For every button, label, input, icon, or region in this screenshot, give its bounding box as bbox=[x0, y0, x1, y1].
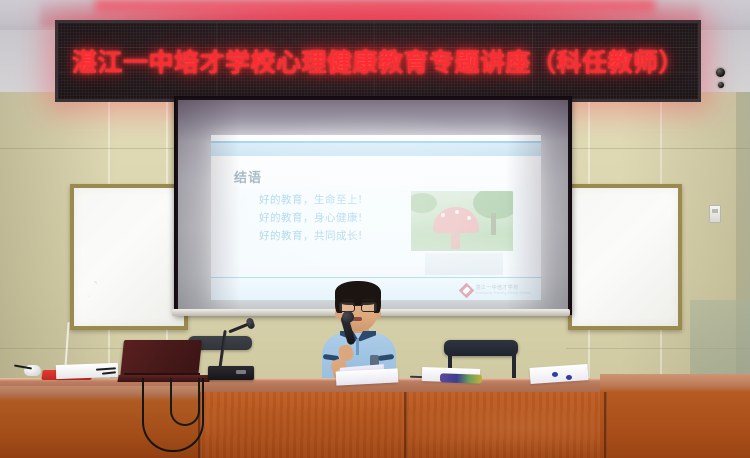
glasses-icon bbox=[339, 302, 377, 310]
led-banner: 湛江一中培才学校心理健康教育专题讲座（科任教师） bbox=[55, 20, 701, 102]
projection-surface: 结语 好的教育，生命至上! 好的教育，身心健康! 好的教育，共同成长! bbox=[178, 100, 568, 311]
slide-line: 好的教育，共同成长! bbox=[259, 227, 404, 245]
chair-backrest bbox=[444, 340, 518, 356]
ceiling-speaker-icon bbox=[716, 68, 725, 77]
podium-panel-divider bbox=[406, 392, 407, 458]
ceiling-speaker-icon bbox=[718, 82, 724, 88]
led-banner-text: 湛江一中培才学校心理健康教育专题讲座（科任教师） bbox=[58, 23, 698, 99]
microphone-indicator bbox=[236, 370, 246, 374]
school-logo-icon bbox=[459, 283, 475, 299]
slide-header-band bbox=[211, 143, 541, 156]
slide-text-block: 好的教育，生命至上! 好的教育，身心健康! 好的教育，共同成长! bbox=[259, 191, 404, 245]
slide-photo-secondary bbox=[425, 253, 503, 275]
slide-line: 好的教育，生命至上! bbox=[259, 191, 404, 209]
wall-light-switch[interactable] bbox=[709, 205, 721, 223]
presentation-slide: 结语 好的教育，生命至上! 好的教育，身心健康! 好的教育，共同成长! bbox=[211, 135, 541, 300]
paper-marking bbox=[552, 372, 558, 377]
lecture-hall-photo: 湛江一中培才学校心理健康教育专题讲座（科任教师） ᕐ ˒ 结语 好的教育，生命至… bbox=[0, 0, 750, 458]
shirt-placket bbox=[356, 339, 359, 355]
school-logo: 湛江一中培才学校 Zhanjiang Yizhong Peicai School bbox=[461, 285, 531, 296]
slide-line: 好的教育，身心健康! bbox=[259, 209, 404, 227]
desk-accessories[interactable] bbox=[440, 373, 482, 383]
slide-photo bbox=[411, 191, 513, 251]
slide-title: 结语 bbox=[234, 167, 262, 186]
power-cable bbox=[170, 378, 200, 426]
conference-microphone-base[interactable] bbox=[208, 366, 254, 380]
whiteboard-left: ᕐ ˒ bbox=[70, 184, 188, 330]
school-logo-name-en: Zhanjiang Yizhong Peicai School bbox=[475, 291, 531, 296]
paper-marking bbox=[566, 375, 572, 380]
podium-right-section bbox=[600, 374, 750, 458]
led-red-glow-core bbox=[95, 0, 655, 14]
whiteboard-right bbox=[568, 184, 682, 330]
mushroom-sign-icon bbox=[433, 207, 479, 233]
podium-panel-divider bbox=[606, 392, 607, 458]
